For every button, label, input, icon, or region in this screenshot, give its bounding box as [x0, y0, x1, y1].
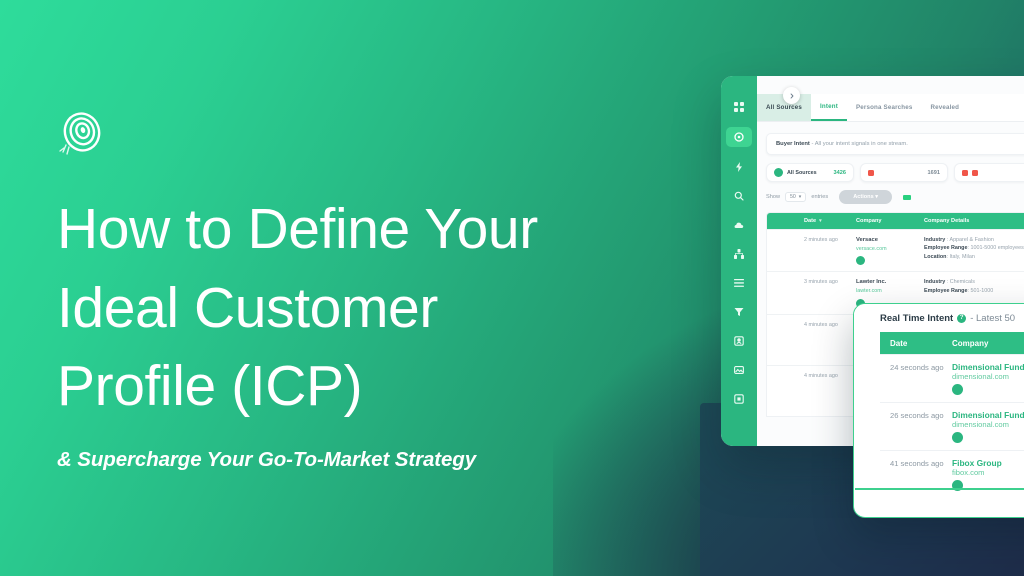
chip-all-sources[interactable]: All Sources 3426 [766, 163, 854, 182]
table-row[interactable]: 2 minutes ago Versace versace.com Indust… [767, 229, 1024, 271]
sidebar-item-network[interactable] [729, 245, 749, 263]
row-date: 4 minutes ago [797, 321, 849, 359]
row-checkbox[interactable] [767, 278, 797, 307]
banner-separator: - [811, 141, 813, 147]
tab-intent[interactable]: Intent [811, 94, 847, 121]
rti-title: Real Time Intent [880, 313, 953, 324]
all-sources-dot-icon [774, 168, 783, 177]
chevron-right-icon [789, 93, 795, 99]
row-date: 2 minutes ago [797, 236, 849, 265]
table-header-row: Date▾ Company Company Details [767, 213, 1024, 229]
rti-date: 41 seconds ago [880, 458, 944, 469]
dashboard-artwork: All Sources Intent Persona Searches Reve… [705, 58, 1024, 528]
sidebar-item-box[interactable] [729, 390, 749, 408]
buyer-intent-banner: Buyer Intent - All your intent signals i… [766, 133, 1024, 155]
rti-header-row: Date Company [880, 332, 1024, 354]
chip-count: 1691 [928, 170, 940, 176]
sidebar-item-dashboard[interactable] [729, 98, 749, 116]
sidebar-item-cloud[interactable] [729, 216, 749, 234]
rti-company: Fibox Group fibox.com [944, 458, 1024, 491]
rti-date: 26 seconds ago [880, 410, 944, 421]
question-mark-icon[interactable]: ? [957, 314, 966, 323]
alert-double-icon-a [962, 170, 968, 176]
real-time-intent-header: Real Time Intent ? - Latest 50 [854, 304, 1024, 332]
page-title: How to Define Your Ideal Customer Profil… [57, 190, 677, 426]
row-checkbox[interactable] [767, 236, 797, 265]
dashboard-grid-icon [734, 102, 744, 112]
company-badge-icon [856, 256, 865, 265]
network-icon [734, 249, 744, 259]
real-time-intent-card: Real Time Intent ? - Latest 50 Date Comp… [853, 303, 1024, 518]
rti-column-company[interactable]: Company [944, 339, 1024, 348]
banner-text: All your intent signals in one stream. [815, 141, 908, 147]
actions-label: Actions [853, 194, 874, 200]
row-date: 4 minutes ago [797, 372, 849, 410]
tab-revealed[interactable]: Revealed [922, 94, 969, 121]
chevron-down-icon: ▾ [875, 194, 878, 200]
tab-persona-searches[interactable]: Persona Searches [847, 94, 922, 121]
sidebar-item-filter[interactable] [729, 303, 749, 321]
sidebar-collapse-button[interactable] [783, 87, 800, 104]
column-date[interactable]: Date▾ [797, 218, 849, 224]
banner-title: Buyer Intent [776, 141, 810, 147]
search-icon [734, 191, 744, 201]
rti-subtitle: - Latest 50 [970, 313, 1015, 324]
sidebar-item-intent[interactable] [726, 127, 752, 147]
image-icon [734, 365, 744, 375]
rti-company: Dimensional Fund Advisors dimensional.co… [944, 362, 1024, 395]
rti-row[interactable]: 41 seconds ago Fibox Group fibox.com [880, 450, 1024, 498]
page-subtitle: & Supercharge Your Go-To-Market Strategy [57, 448, 677, 472]
company-badge-icon [952, 384, 963, 395]
column-company[interactable]: Company [849, 218, 917, 224]
sidebar-item-contacts[interactable] [729, 332, 749, 350]
sidebar-item-image[interactable] [729, 361, 749, 379]
hero-block: How to Define Your Ideal Customer Profil… [57, 108, 677, 472]
sort-caret-icon: ▾ [819, 218, 822, 224]
entries-select[interactable]: 50 ▾ [785, 192, 806, 202]
box-icon [734, 394, 744, 404]
row-checkbox[interactable] [767, 321, 797, 359]
bolt-icon [734, 162, 744, 172]
list-icon [734, 278, 744, 288]
source-chip-row: All Sources 3426 1691 496 [766, 163, 1024, 182]
rti-company: Dimensional Fund Advisors dimensional.co… [944, 410, 1024, 443]
cloud-icon [734, 220, 744, 230]
chip-label: All Sources [787, 170, 817, 176]
entries-value: 50 [790, 194, 796, 200]
row-checkbox[interactable] [767, 372, 797, 410]
filter-funnel-icon [734, 307, 744, 317]
actions-button[interactable]: Actions ▾ [839, 190, 892, 204]
chip-alert-single[interactable]: 1691 [860, 163, 948, 182]
spiral-onion-logo [57, 108, 107, 158]
intent-target-icon [734, 132, 744, 142]
company-badge-icon [952, 432, 963, 443]
row-details: Industry : Apparel & Fashion Employee Ra… [917, 236, 1024, 265]
row-date: 3 minutes ago [797, 278, 849, 307]
select-all-checkbox[interactable] [767, 218, 797, 224]
rti-row[interactable]: 26 seconds ago Dimensional Fund Advisors… [880, 402, 1024, 450]
chevron-down-icon: ▾ [799, 194, 802, 200]
sidebar-item-bolt[interactable] [729, 158, 749, 176]
show-label: Show [766, 194, 780, 200]
app-sidebar[interactable] [721, 76, 757, 446]
row-company: Versace versace.com [849, 236, 917, 265]
entries-label: entries [811, 194, 828, 200]
rti-row[interactable]: 24 seconds ago Dimensional Fund Advisors… [880, 354, 1024, 402]
chip-alert-double[interactable]: 496 [954, 163, 1024, 182]
rti-date: 24 seconds ago [880, 362, 944, 373]
accent-line-horizontal [855, 488, 1024, 490]
column-company-details[interactable]: Company Details [917, 218, 1024, 224]
contacts-icon [734, 336, 744, 346]
alert-double-icon-b [972, 170, 978, 176]
sidebar-item-list[interactable] [729, 274, 749, 292]
chip-count: 3426 [834, 170, 846, 176]
rti-column-date[interactable]: Date [880, 339, 944, 348]
camera-icon[interactable] [903, 195, 911, 200]
alert-single-icon [868, 170, 874, 176]
sidebar-item-search[interactable] [729, 187, 749, 205]
table-toolbar: Show 50 ▾ entries Actions ▾ [766, 190, 1024, 204]
